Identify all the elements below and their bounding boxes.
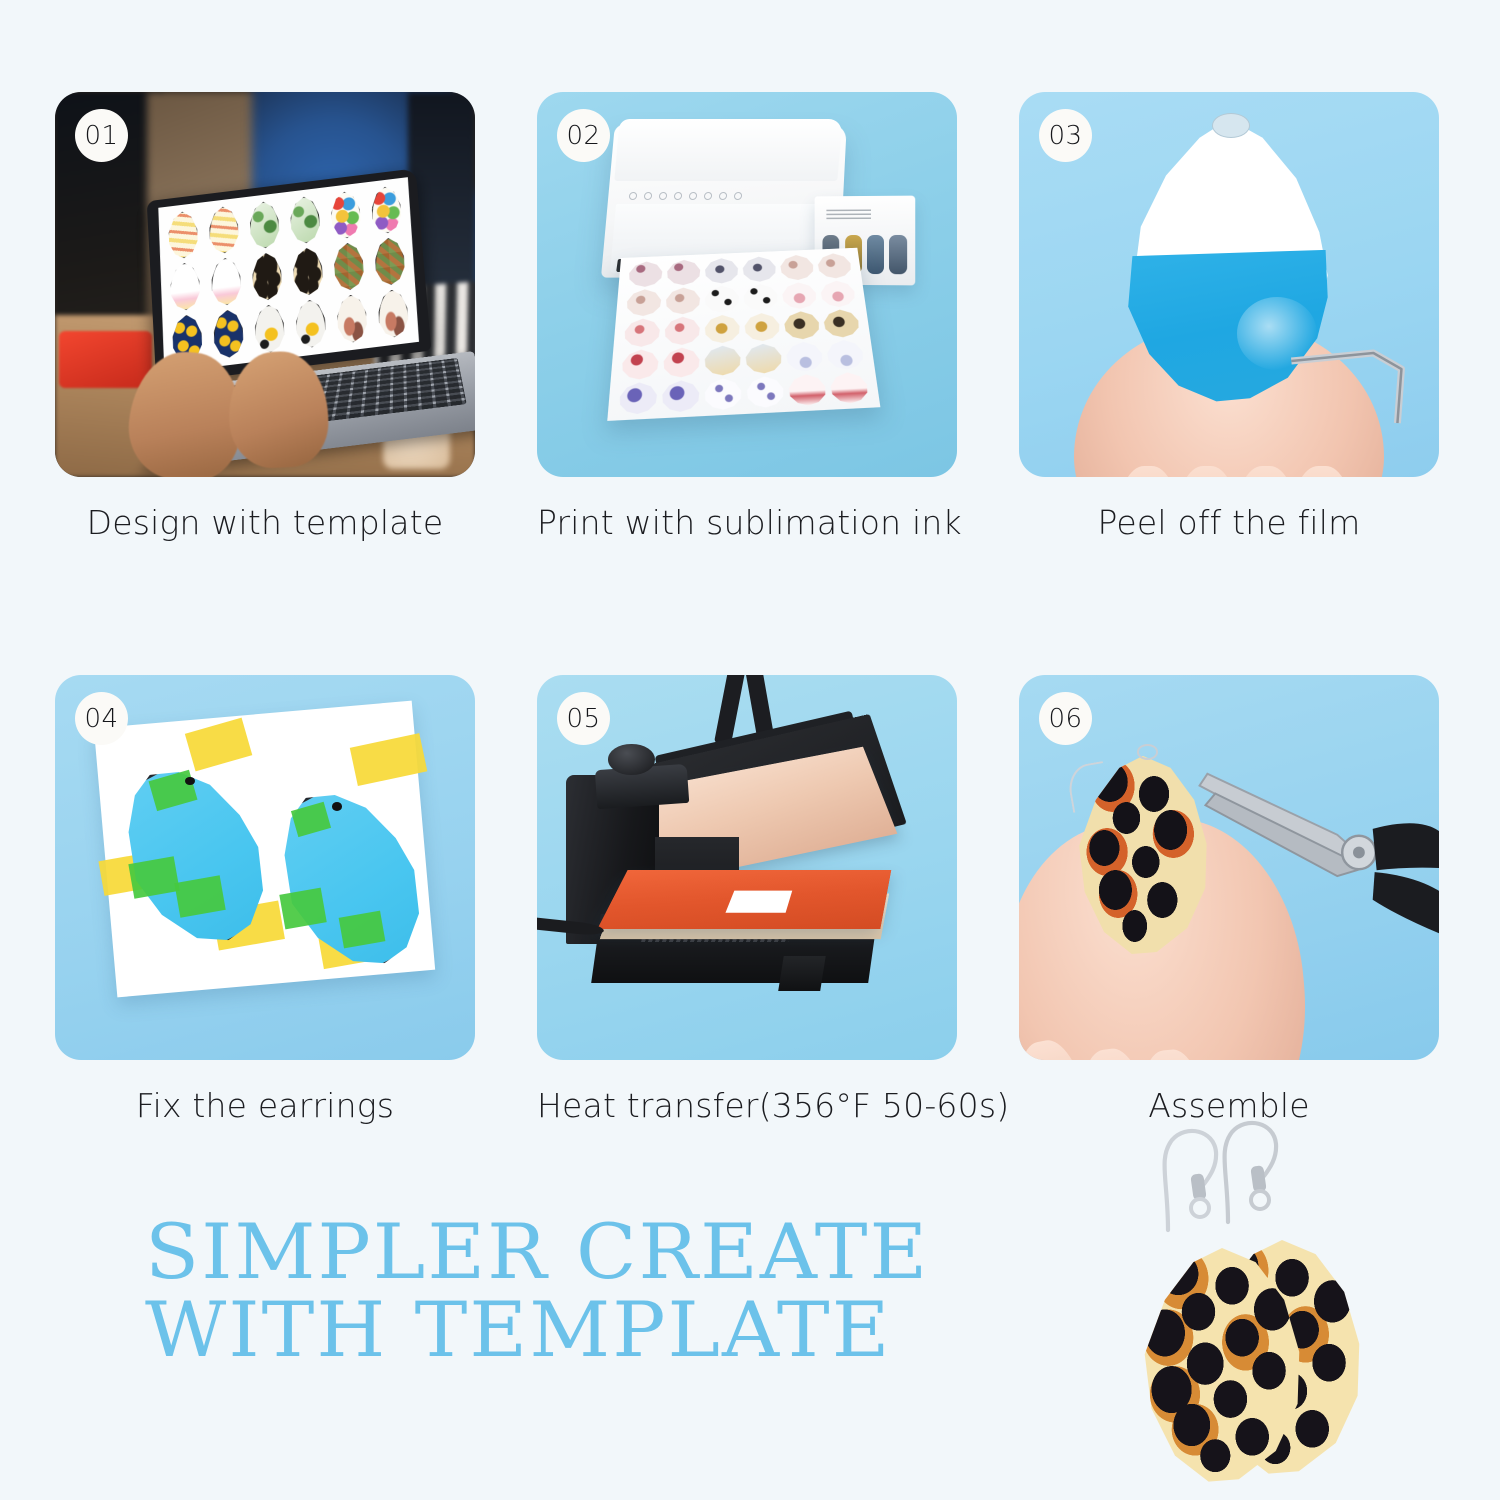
jump-ring (1137, 744, 1158, 759)
laptop-screen-templates (158, 177, 419, 373)
red-notebook (59, 331, 151, 389)
metal-tool-icon (1288, 331, 1431, 431)
step-cell-05: 05 Heat transfer(356°F 50-60s) (537, 675, 957, 1125)
pliers-icon (1179, 760, 1439, 937)
step-caption-04: Fix the earrings (55, 1086, 475, 1125)
step-caption-03: Peel off the film (1019, 503, 1439, 542)
step-card-02[interactable]: 02 (537, 92, 957, 477)
product-earrings (1120, 1110, 1480, 1500)
transfer-sheet (726, 890, 793, 912)
step-badge-02: 02 (557, 109, 610, 162)
printer-control-buttons (629, 190, 769, 202)
step-caption-05: Heat transfer(356°F 50-60s) (537, 1086, 957, 1125)
step-card-01[interactable]: 01 (55, 92, 475, 477)
printed-earring-sheet (607, 247, 881, 421)
step-cell-02: 02 Print with sublimation ink (537, 92, 957, 542)
step-badge-04: 04 (75, 692, 128, 745)
step-cell-03: 03 Peel off the film (1019, 92, 1439, 542)
step-cell-01: 01 Design with template (55, 92, 475, 542)
step-badge-03: 03 (1039, 109, 1092, 162)
step-card-06[interactable]: 06 (1019, 675, 1439, 1060)
step-card-05[interactable]: 05 (537, 675, 957, 1060)
step-badge-06: 06 (1039, 692, 1092, 745)
ear-hook-icon (1156, 1122, 1234, 1242)
step-card-03[interactable]: 03 (1019, 92, 1439, 477)
step-cell-04: 04 Fix the earrings (55, 675, 475, 1125)
step-caption-02: Print with sublimation ink (537, 503, 957, 542)
pressure-knob (608, 744, 654, 775)
step-cell-06: 06 Assemble (1019, 675, 1439, 1125)
step-card-04[interactable]: 04 (55, 675, 475, 1060)
laptop (140, 163, 475, 476)
step-caption-01: Design with template (55, 503, 475, 542)
teardrop-hole (1212, 113, 1250, 138)
steps-grid: 01 Design with template (55, 92, 1460, 1125)
step-badge-01: 01 (75, 109, 128, 162)
ear-wire (1066, 761, 1111, 813)
headline: SIMPLER CREATE WITH TEMPLATE (145, 1213, 929, 1368)
step-badge-05: 05 (557, 692, 610, 745)
